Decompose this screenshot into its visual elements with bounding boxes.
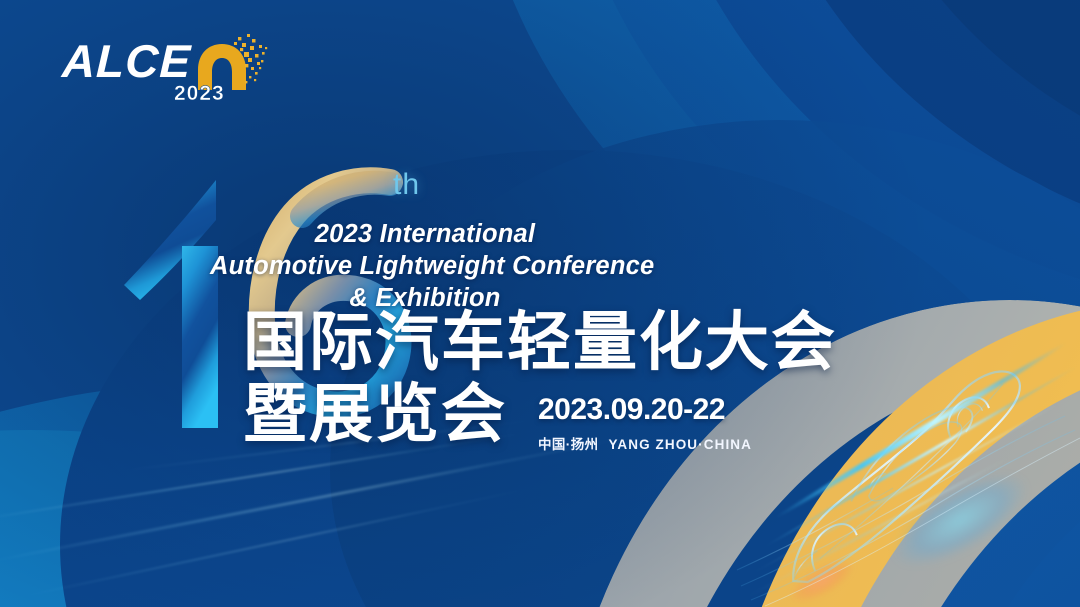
- edition-ordinal-suffix: th: [393, 168, 420, 202]
- event-location: 中国·扬州YANG ZHOU·CHINA: [538, 433, 752, 453]
- chinese-title-line-2: 暨展览会: [243, 382, 507, 446]
- alce-logo-year: 2023: [174, 82, 225, 106]
- chinese-title-line-1: 国际汽车轻量化大会: [243, 310, 837, 374]
- event-location-en: YANG ZHOU·CHINA: [609, 437, 753, 452]
- english-title: 2023 International Automotive Lightweigh…: [210, 218, 640, 314]
- conference-banner: ALCE 2023: [0, 0, 1080, 607]
- event-location-cn: 中国·扬州: [538, 437, 599, 452]
- english-title-line-2: Automotive Lightweight Conference: [210, 250, 640, 282]
- event-info: 2023.09.20-22 中国·扬州YANG ZHOU·CHINA: [538, 395, 752, 453]
- event-date: 2023.09.20-22: [538, 395, 752, 425]
- alce-wordmark: ALCE: [61, 38, 192, 84]
- alce-logo[interactable]: ALCE 2023: [62, 32, 262, 104]
- english-title-line-1: 2023 International: [210, 218, 640, 250]
